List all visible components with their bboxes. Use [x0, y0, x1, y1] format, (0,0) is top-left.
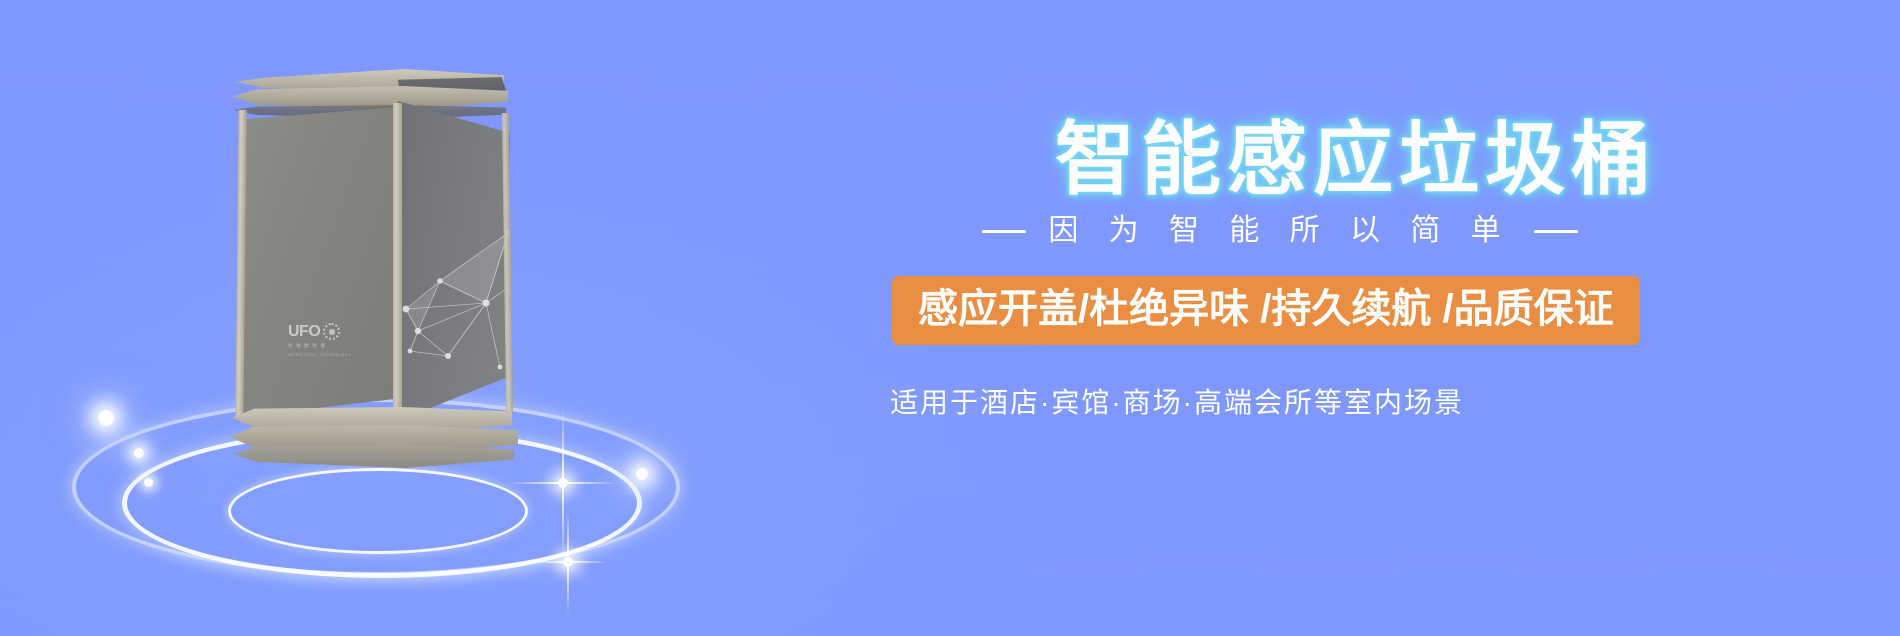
rule-left-icon [982, 230, 1026, 233]
logo-subtitle-cn: 优 福 欧 智 能 [288, 343, 352, 349]
feature-highlight-text: 感应开盖/杜绝异味 /持久续航 /品质保证 [918, 287, 1614, 331]
bin-edge-center [393, 103, 402, 423]
promo-banner: UFO 优 福 欧 智 能 INTELLIGENT TECHNOLOGY 智能感… [0, 0, 1900, 636]
tagline-row: 因 为 智 能 所 以 简 单 [880, 216, 1680, 246]
bin-face-left [240, 107, 400, 417]
bin-face-right [398, 101, 510, 421]
page-title: 智能感应垃圾桶 [1055, 120, 1657, 200]
logo-subtitle-en: INTELLIGENT TECHNOLOGY [288, 353, 352, 357]
glow-dot-icon [636, 468, 648, 480]
bin-brand-logo: UFO 优 福 欧 智 能 INTELLIGENT TECHNOLOGY [288, 323, 352, 367]
sparkle-core [563, 557, 573, 567]
product-scene: UFO 优 福 欧 智 能 INTELLIGENT TECHNOLOGY [60, 20, 780, 620]
glow-dot-icon [134, 448, 144, 458]
tagline-text: 因 为 智 能 所 以 简 单 [1048, 216, 1511, 246]
logo-circle-icon [323, 323, 340, 340]
marketing-copy-block: 智能感应垃圾桶 因 为 智 能 所 以 简 单 感应开盖/杜绝异味 /持久续航 … [880, 96, 1840, 516]
trash-bin-product-image: UFO 优 福 欧 智 能 INTELLIGENT TECHNOLOGY [230, 55, 530, 465]
rule-right-icon [1534, 230, 1578, 233]
ripple-ring-inner [228, 468, 528, 554]
glow-dot-icon [98, 410, 114, 426]
glow-dot-icon [144, 478, 153, 487]
use-case-text: 适用于酒店·宾馆·商场·高端会所等室内场景 [890, 381, 1464, 421]
network-graphic-icon [398, 181, 510, 391]
logo-wordmark: UFO [288, 324, 320, 340]
feature-highlight-badge: 感应开盖/杜绝异味 /持久续航 /品质保证 [892, 276, 1640, 345]
